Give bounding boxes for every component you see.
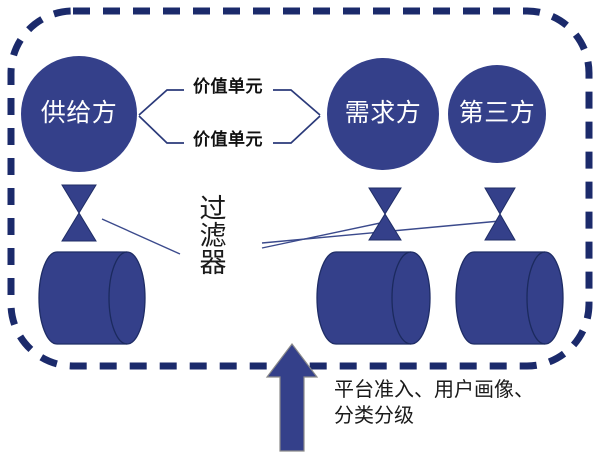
- diagram-text-layer: 供给方 需求方 第三方 价值单元 价值单元 过 滤 器 平台准入、用户画像、 分…: [0, 0, 611, 454]
- actor-label-third-party: 第三方: [427, 100, 567, 127]
- governance-note: 平台准入、用户画像、 分类分级: [334, 377, 534, 428]
- filter-label-char-1: 过: [196, 196, 230, 223]
- filter-label-char-3: 器: [196, 250, 230, 277]
- actor-label-supplier: 供给方: [9, 100, 149, 127]
- value-unit-label-top: 价值单元: [173, 78, 283, 96]
- filter-label-char-2: 滤: [196, 223, 230, 250]
- filter-label: 过 滤 器: [196, 196, 230, 277]
- governance-note-line-2: 分类分级: [334, 403, 534, 429]
- diagram-canvas: 供给方 需求方 第三方 价值单元 价值单元 过 滤 器 平台准入、用户画像、 分…: [0, 0, 611, 454]
- governance-note-line-1: 平台准入、用户画像、: [334, 377, 534, 403]
- value-unit-label-bottom: 价值单元: [173, 131, 283, 149]
